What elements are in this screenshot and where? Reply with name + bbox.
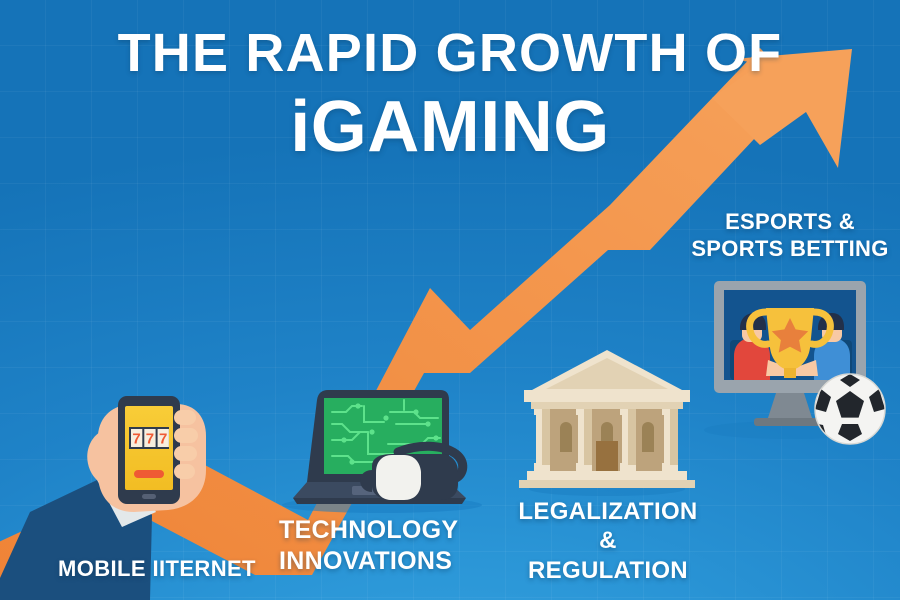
spin-button[interactable] — [134, 470, 164, 478]
monitor-trophy-soccer-icon — [704, 281, 885, 444]
label-technology-innovations: TECHNOLOGY INNOVATIONS — [279, 515, 458, 576]
bank-courthouse-icon — [519, 350, 695, 496]
monitor-foot — [754, 418, 826, 426]
reel-digit: 7 — [159, 431, 167, 448]
bank-door[interactable] — [596, 441, 618, 471]
home-button[interactable] — [142, 494, 156, 499]
label-legalization-regulation: LEGALIZATION & REGULATION — [508, 497, 708, 585]
stylobate — [527, 471, 687, 480]
soccer-ball — [815, 374, 885, 444]
entablature — [524, 390, 690, 402]
reel-digit: 7 — [132, 431, 140, 448]
label-mobile-internet: MOBILE IITERNET — [58, 556, 256, 583]
reel-digit: 7 — [146, 431, 154, 448]
infographic-canvas: 7 7 7 — [0, 0, 900, 600]
arched-window — [560, 422, 572, 452]
label-esports-sports-betting: ESPORTS & SPORTS BETTING — [690, 209, 890, 263]
arched-window — [642, 422, 654, 452]
laptop-vr-headset-icon — [282, 390, 482, 513]
base-step — [519, 480, 695, 488]
trophy-stem — [784, 368, 796, 378]
vr-facepad — [376, 455, 421, 500]
monitor-neck — [768, 393, 812, 418]
architrave — [531, 402, 683, 409]
illustrations-layer: 7 7 7 — [0, 0, 900, 600]
